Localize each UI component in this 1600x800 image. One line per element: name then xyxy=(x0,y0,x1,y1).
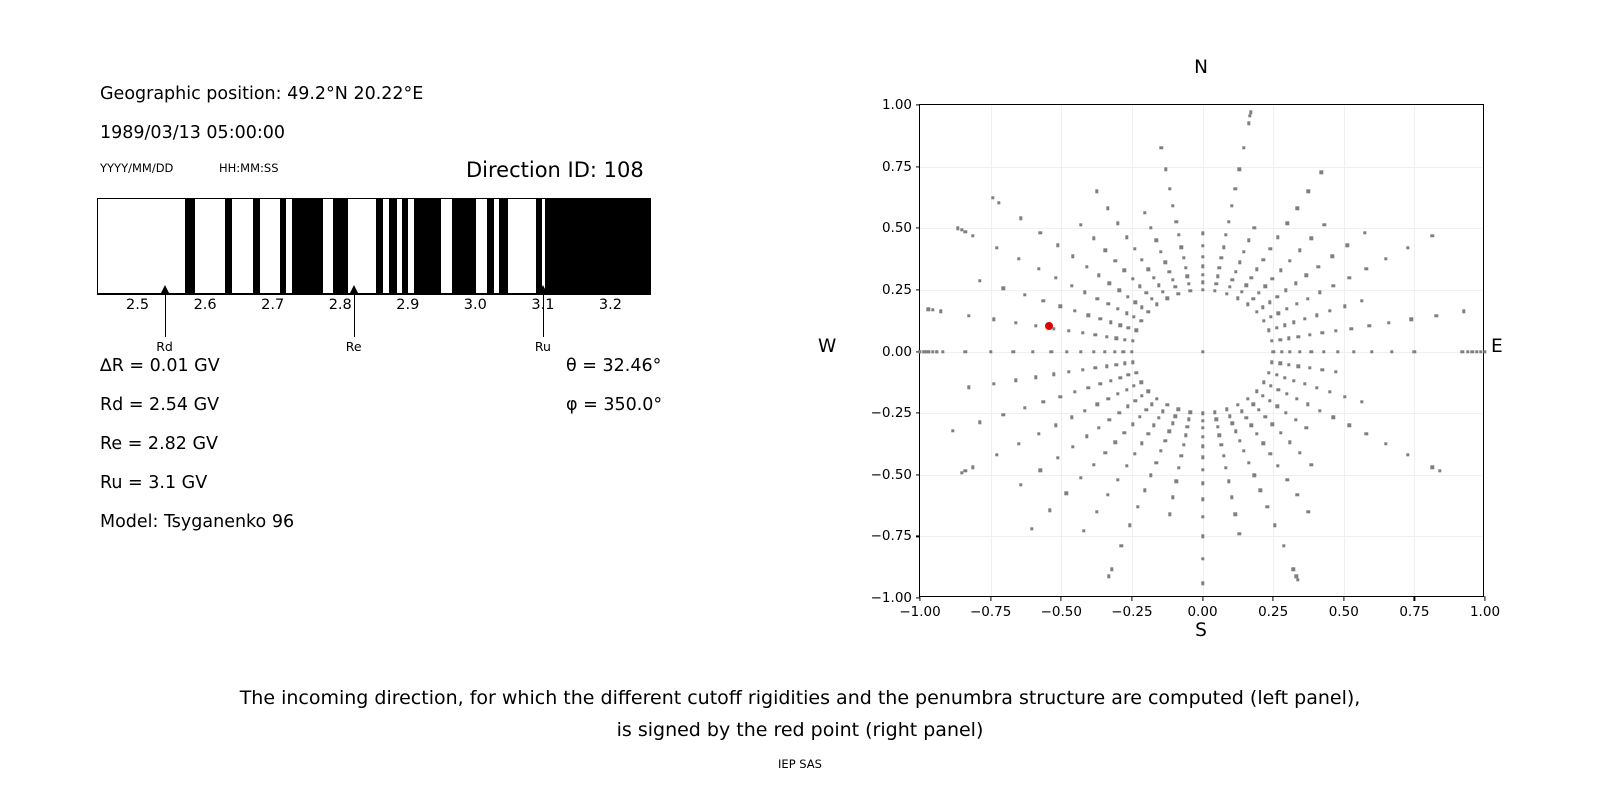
direction-point xyxy=(1132,384,1135,387)
direction-point xyxy=(1303,382,1306,385)
direction-point xyxy=(1222,245,1225,248)
direction-point xyxy=(1131,339,1134,342)
rigidity-marker-label: Rd xyxy=(156,339,173,354)
direction-point xyxy=(1297,335,1300,338)
direction-point xyxy=(1269,452,1272,455)
direction-point xyxy=(1050,350,1053,353)
penumbra-band xyxy=(452,199,476,293)
direction-point xyxy=(1283,324,1286,327)
direction-point xyxy=(1201,288,1204,291)
direction-point xyxy=(1287,337,1290,340)
direction-point xyxy=(1152,276,1155,279)
direction-point xyxy=(1220,256,1223,259)
direction-point xyxy=(1238,439,1241,442)
direction-point xyxy=(1155,397,1158,400)
direction-point xyxy=(1247,461,1250,464)
direction-point xyxy=(1228,415,1231,418)
direction-point xyxy=(1146,268,1149,271)
direction-point xyxy=(1059,305,1062,308)
direction-point xyxy=(1037,432,1040,435)
direction-point xyxy=(1126,326,1129,329)
direction-point xyxy=(1276,236,1279,239)
direction-point xyxy=(1242,449,1245,452)
direction-point xyxy=(1019,483,1022,486)
direction-point xyxy=(927,350,930,353)
direction-point xyxy=(1160,146,1163,149)
direction-point xyxy=(1255,389,1258,392)
direction-point xyxy=(1387,321,1390,324)
direction-point xyxy=(1201,265,1204,268)
direction-point xyxy=(1240,290,1243,293)
direction-point xyxy=(1318,291,1321,294)
direction-point xyxy=(1083,291,1086,294)
direction-point xyxy=(1306,297,1309,300)
direction-point xyxy=(1346,244,1349,247)
x-tick-label: −0.75 xyxy=(970,604,1011,620)
footer-credit: IEP SAS xyxy=(0,757,1600,771)
direction-point xyxy=(1268,399,1271,402)
x-tick-label: −0.25 xyxy=(1111,604,1152,620)
x-tick-label: 0.50 xyxy=(1329,604,1359,620)
direction-point xyxy=(1242,250,1245,253)
direction-point xyxy=(1224,233,1227,236)
x-tick-label: 0.75 xyxy=(1399,604,1429,620)
x-tick-mark xyxy=(1484,596,1485,601)
direction-point xyxy=(1096,297,1099,300)
x-tick-label: 1.00 xyxy=(1470,604,1500,620)
direction-point xyxy=(1462,310,1465,313)
direction-point xyxy=(1065,350,1068,353)
direction-point xyxy=(995,453,998,456)
direction-point xyxy=(1431,234,1434,237)
direction-id-label: Direction ID: 108 xyxy=(466,158,644,182)
direction-point xyxy=(1279,362,1282,365)
direction-point xyxy=(1073,390,1076,393)
direction-point xyxy=(1471,350,1474,353)
direction-point xyxy=(1092,463,1095,466)
direction-map-axes: −1.00−0.75−0.50−0.250.000.250.500.751.00… xyxy=(919,104,1484,597)
direction-point xyxy=(939,310,942,313)
direction-point xyxy=(1150,403,1153,406)
param-rd: Rd = 2.54 GV xyxy=(100,395,219,415)
direction-point xyxy=(1023,406,1026,409)
direction-point xyxy=(1334,329,1337,332)
direction-point xyxy=(1154,239,1157,242)
direction-point xyxy=(1303,317,1306,320)
direction-point xyxy=(1234,430,1237,433)
direction-point xyxy=(991,196,994,199)
direction-point xyxy=(1171,278,1174,281)
direction-point xyxy=(1125,388,1128,391)
direction-point xyxy=(1315,314,1318,317)
direction-point xyxy=(1042,400,1045,403)
direction-point xyxy=(1123,362,1126,365)
direction-point xyxy=(1201,231,1204,234)
direction-point xyxy=(1310,350,1313,353)
direction-point xyxy=(1145,291,1148,294)
direction-point xyxy=(1295,493,1298,496)
direction-point xyxy=(1056,456,1059,459)
direction-point xyxy=(1249,111,1252,114)
direction-point xyxy=(1275,373,1278,376)
y-tick-label: 1.00 xyxy=(882,97,912,113)
direction-point xyxy=(1109,321,1112,324)
penumbra-band xyxy=(292,199,323,293)
direction-point xyxy=(1147,310,1150,313)
direction-point xyxy=(1308,333,1311,336)
penumbra-band xyxy=(225,199,232,293)
direction-point xyxy=(1085,435,1088,438)
direction-point xyxy=(1038,469,1041,472)
direction-point xyxy=(1189,289,1192,292)
direction-point xyxy=(1215,418,1218,421)
direction-point xyxy=(1201,411,1204,414)
direction-point xyxy=(1177,292,1180,295)
direction-point xyxy=(1017,257,1020,260)
direction-point xyxy=(1250,423,1253,426)
direction-point xyxy=(1390,350,1393,353)
direction-point xyxy=(1138,415,1141,418)
time-format-hint: HH:MM:SS xyxy=(219,161,279,175)
direction-point xyxy=(1213,289,1216,292)
direction-point xyxy=(1370,350,1373,353)
penumbra-tick-label: 2.8 xyxy=(329,297,352,313)
direction-point xyxy=(1257,408,1260,411)
direction-point xyxy=(1270,339,1273,342)
direction-point xyxy=(1143,489,1146,492)
direction-point xyxy=(1117,289,1120,292)
direction-point xyxy=(978,279,981,282)
direction-point xyxy=(1262,258,1265,261)
direction-point xyxy=(1248,114,1251,117)
direction-point xyxy=(1292,379,1295,382)
direction-point xyxy=(1271,422,1274,425)
direction-point xyxy=(1227,480,1230,483)
direction-point xyxy=(960,471,963,474)
penumbra-axis-line xyxy=(97,294,651,295)
direction-point xyxy=(1201,350,1204,353)
direction-point xyxy=(923,350,926,353)
penumbra-axis: 2.52.62.72.82.93.03.13.2RdReRu xyxy=(97,294,651,344)
direction-point xyxy=(1177,233,1180,236)
direction-point xyxy=(931,350,934,353)
y-tick-mark xyxy=(916,228,921,229)
direction-point xyxy=(963,230,966,233)
direction-point xyxy=(1167,430,1170,433)
direction-point xyxy=(1252,226,1255,229)
direction-point xyxy=(1182,256,1185,259)
direction-point xyxy=(1082,529,1085,532)
penumbra-band xyxy=(185,199,195,293)
datetime-label: 1989/03/13 05:00:00 xyxy=(100,123,285,143)
direction-point xyxy=(1240,410,1243,413)
direction-point xyxy=(1014,321,1017,324)
x-tick-mark xyxy=(1273,596,1274,601)
rigidity-marker-arrowhead xyxy=(161,285,169,293)
direction-point xyxy=(1087,314,1090,317)
direction-point xyxy=(1109,379,1112,382)
direction-point xyxy=(1227,220,1230,223)
direction-point xyxy=(978,421,981,424)
direction-point xyxy=(1201,468,1204,471)
direction-point xyxy=(1087,386,1090,389)
gridline-vertical xyxy=(1344,105,1345,596)
direction-point xyxy=(1030,527,1033,530)
direction-point xyxy=(1479,350,1482,353)
direction-point xyxy=(1286,478,1289,481)
direction-point xyxy=(1117,411,1120,414)
direction-point xyxy=(1384,442,1387,445)
geographic-position-label: Geographic position: 49.2°N 20.22°E xyxy=(100,84,423,104)
direction-point xyxy=(1065,491,1068,494)
direction-point xyxy=(1262,381,1265,384)
direction-point xyxy=(1287,363,1290,366)
direction-point xyxy=(1246,303,1249,306)
direction-point xyxy=(1132,315,1135,318)
direction-point xyxy=(1115,363,1118,366)
direction-point xyxy=(1406,453,1409,456)
direction-point xyxy=(1461,350,1464,353)
direction-point xyxy=(1384,257,1387,260)
direction-point xyxy=(1275,295,1278,298)
direction-point xyxy=(1266,505,1269,508)
direction-point xyxy=(1164,168,1167,171)
direction-point xyxy=(1261,394,1264,397)
direction-point xyxy=(1071,255,1074,258)
direction-point xyxy=(1288,259,1291,262)
direction-point xyxy=(1174,415,1177,418)
direction-point xyxy=(1126,404,1129,407)
y-tick-mark xyxy=(916,104,921,105)
direction-point xyxy=(1119,376,1122,379)
direction-point xyxy=(941,350,944,353)
direction-point xyxy=(1322,350,1325,353)
direction-point xyxy=(1269,247,1272,250)
direction-point xyxy=(1360,299,1363,302)
direction-point xyxy=(1180,454,1183,457)
direction-point xyxy=(1222,454,1225,457)
y-tick-label: 0.25 xyxy=(882,282,912,298)
direction-point xyxy=(1475,350,1478,353)
direction-point xyxy=(963,469,966,472)
direction-point xyxy=(1171,422,1174,425)
direction-point xyxy=(1174,285,1177,288)
direction-point xyxy=(1280,350,1283,353)
penumbra-band xyxy=(333,199,348,293)
direction-point xyxy=(1255,268,1258,271)
direction-point xyxy=(1294,418,1297,421)
direction-point xyxy=(1108,282,1111,285)
direction-point xyxy=(1201,273,1204,276)
rigidity-marker-arrow xyxy=(543,293,544,337)
direction-point xyxy=(1319,170,1322,173)
direction-point xyxy=(1252,297,1255,300)
compass-label-west: W xyxy=(818,336,836,357)
gridline-horizontal xyxy=(920,167,1483,168)
direction-point xyxy=(1201,281,1204,284)
direction-point xyxy=(1275,326,1278,329)
y-tick-mark xyxy=(916,413,921,414)
direction-point xyxy=(1189,410,1192,413)
x-tick-mark xyxy=(1131,596,1132,601)
direction-point xyxy=(1363,231,1366,234)
direction-point xyxy=(1095,190,1098,193)
direction-point xyxy=(1138,285,1141,288)
penumbra-band xyxy=(545,199,651,293)
direction-point xyxy=(1067,370,1070,373)
direction-point xyxy=(1116,222,1119,225)
direction-point xyxy=(1071,445,1074,448)
direction-point xyxy=(1079,350,1082,353)
caption-line-1: The incoming direction, for which the di… xyxy=(0,687,1600,709)
x-tick-label: 0.25 xyxy=(1258,604,1288,620)
direction-point xyxy=(1038,231,1041,234)
direction-point xyxy=(956,227,959,230)
direction-point xyxy=(1201,515,1204,518)
direction-point xyxy=(1095,510,1098,513)
direction-point xyxy=(1097,274,1100,277)
direction-point xyxy=(1017,442,1020,445)
rigidity-marker-label: Re xyxy=(346,339,362,354)
y-tick-mark xyxy=(916,474,921,475)
direction-point xyxy=(1317,265,1320,268)
direction-point xyxy=(1201,445,1204,448)
direction-point xyxy=(1131,277,1134,280)
penumbra-tick-label: 2.9 xyxy=(396,297,419,313)
direction-point xyxy=(1231,422,1234,425)
direction-point xyxy=(1245,284,1248,287)
direction-point xyxy=(1296,578,1299,581)
direction-point xyxy=(1252,403,1255,406)
direction-point xyxy=(1175,480,1178,483)
direction-point xyxy=(1320,331,1323,334)
direction-point xyxy=(1305,426,1308,429)
rigidity-marker-arrow xyxy=(165,293,166,337)
direction-point xyxy=(967,314,970,317)
selected-direction-point[interactable] xyxy=(1045,322,1053,330)
direction-point xyxy=(971,466,974,469)
direction-point xyxy=(1099,317,1102,320)
direction-point xyxy=(1279,431,1282,434)
penumbra-tick-label: 2.6 xyxy=(194,297,217,313)
direction-point xyxy=(1282,544,1285,547)
penumbra-band xyxy=(389,199,397,293)
direction-point xyxy=(1023,293,1026,296)
direction-point xyxy=(1116,392,1119,395)
direction-point xyxy=(1247,239,1250,242)
direction-point xyxy=(1307,510,1310,513)
direction-point xyxy=(1145,408,1148,411)
direction-point xyxy=(1225,408,1228,411)
x-tick-label: 0.00 xyxy=(1187,604,1217,620)
direction-point xyxy=(1140,319,1143,322)
direction-point xyxy=(1276,464,1279,467)
direction-point xyxy=(1308,366,1311,369)
direction-point xyxy=(1201,482,1204,485)
direction-point xyxy=(1187,418,1190,421)
direction-point xyxy=(1115,337,1118,340)
direction-point xyxy=(1216,275,1219,278)
y-tick-label: 0.75 xyxy=(882,159,912,175)
direction-point xyxy=(1332,416,1335,419)
direction-point xyxy=(1298,451,1301,454)
direction-point xyxy=(1279,269,1282,272)
direction-point xyxy=(1136,505,1139,508)
direction-point xyxy=(1186,275,1189,278)
direction-point xyxy=(1201,426,1204,429)
param-re: Re = 2.82 GV xyxy=(100,434,218,454)
direction-point xyxy=(1466,350,1469,353)
direction-point xyxy=(951,429,954,432)
direction-point xyxy=(1079,223,1082,226)
direction-point xyxy=(1267,329,1270,332)
direction-point xyxy=(1059,395,1062,398)
direction-point xyxy=(1252,474,1255,477)
gridline-horizontal xyxy=(920,475,1483,476)
direction-point xyxy=(1318,409,1321,412)
rigidity-marker-label: Ru xyxy=(535,339,551,354)
direction-point xyxy=(1096,403,1099,406)
direction-point xyxy=(1259,489,1262,492)
direction-point xyxy=(1152,423,1155,426)
penumbra-band xyxy=(280,199,287,293)
direction-point xyxy=(1250,276,1253,279)
direction-point xyxy=(1295,207,1298,210)
direction-point xyxy=(1245,416,1248,419)
y-tick-mark xyxy=(916,536,921,537)
direction-point xyxy=(1140,258,1143,261)
direction-point xyxy=(1285,307,1288,310)
direction-point xyxy=(1134,371,1137,374)
penumbra-band xyxy=(487,199,494,293)
penumbra-band xyxy=(499,199,508,293)
direction-point xyxy=(1234,187,1237,190)
direction-point xyxy=(1140,381,1143,384)
direction-point xyxy=(1218,266,1221,269)
compass-label-south: S xyxy=(1195,620,1207,641)
direction-point xyxy=(1368,324,1371,327)
direction-point xyxy=(1406,246,1409,249)
direction-point xyxy=(1184,266,1187,269)
date-format-hint: YYYY/MM/DD xyxy=(100,161,173,175)
penumbra-tick-label: 2.5 xyxy=(126,297,149,313)
direction-point xyxy=(1067,329,1070,332)
caption-line-2: is signed by the red point (right panel) xyxy=(0,719,1600,741)
direction-point xyxy=(1177,466,1180,469)
direction-point xyxy=(1343,395,1346,398)
compass-label-east: E xyxy=(1491,336,1503,357)
direction-point xyxy=(1054,424,1057,427)
direction-point xyxy=(1273,524,1276,527)
direction-point xyxy=(1365,432,1368,435)
direction-point xyxy=(1279,338,1282,341)
x-tick-mark xyxy=(1061,596,1062,601)
direction-point xyxy=(1201,456,1204,459)
x-tick-mark xyxy=(1414,596,1415,601)
direction-point xyxy=(1216,425,1219,428)
direction-point xyxy=(1107,574,1110,577)
direction-point xyxy=(1306,403,1309,406)
direction-point xyxy=(1164,439,1167,442)
direction-point xyxy=(1215,282,1218,285)
direction-point xyxy=(1165,403,1168,406)
direction-point xyxy=(1131,360,1134,363)
direction-point xyxy=(1225,292,1228,295)
direction-point xyxy=(1099,382,1102,385)
gridline-vertical xyxy=(1061,105,1062,596)
gridline-horizontal xyxy=(920,228,1483,229)
direction-point xyxy=(1108,418,1111,421)
